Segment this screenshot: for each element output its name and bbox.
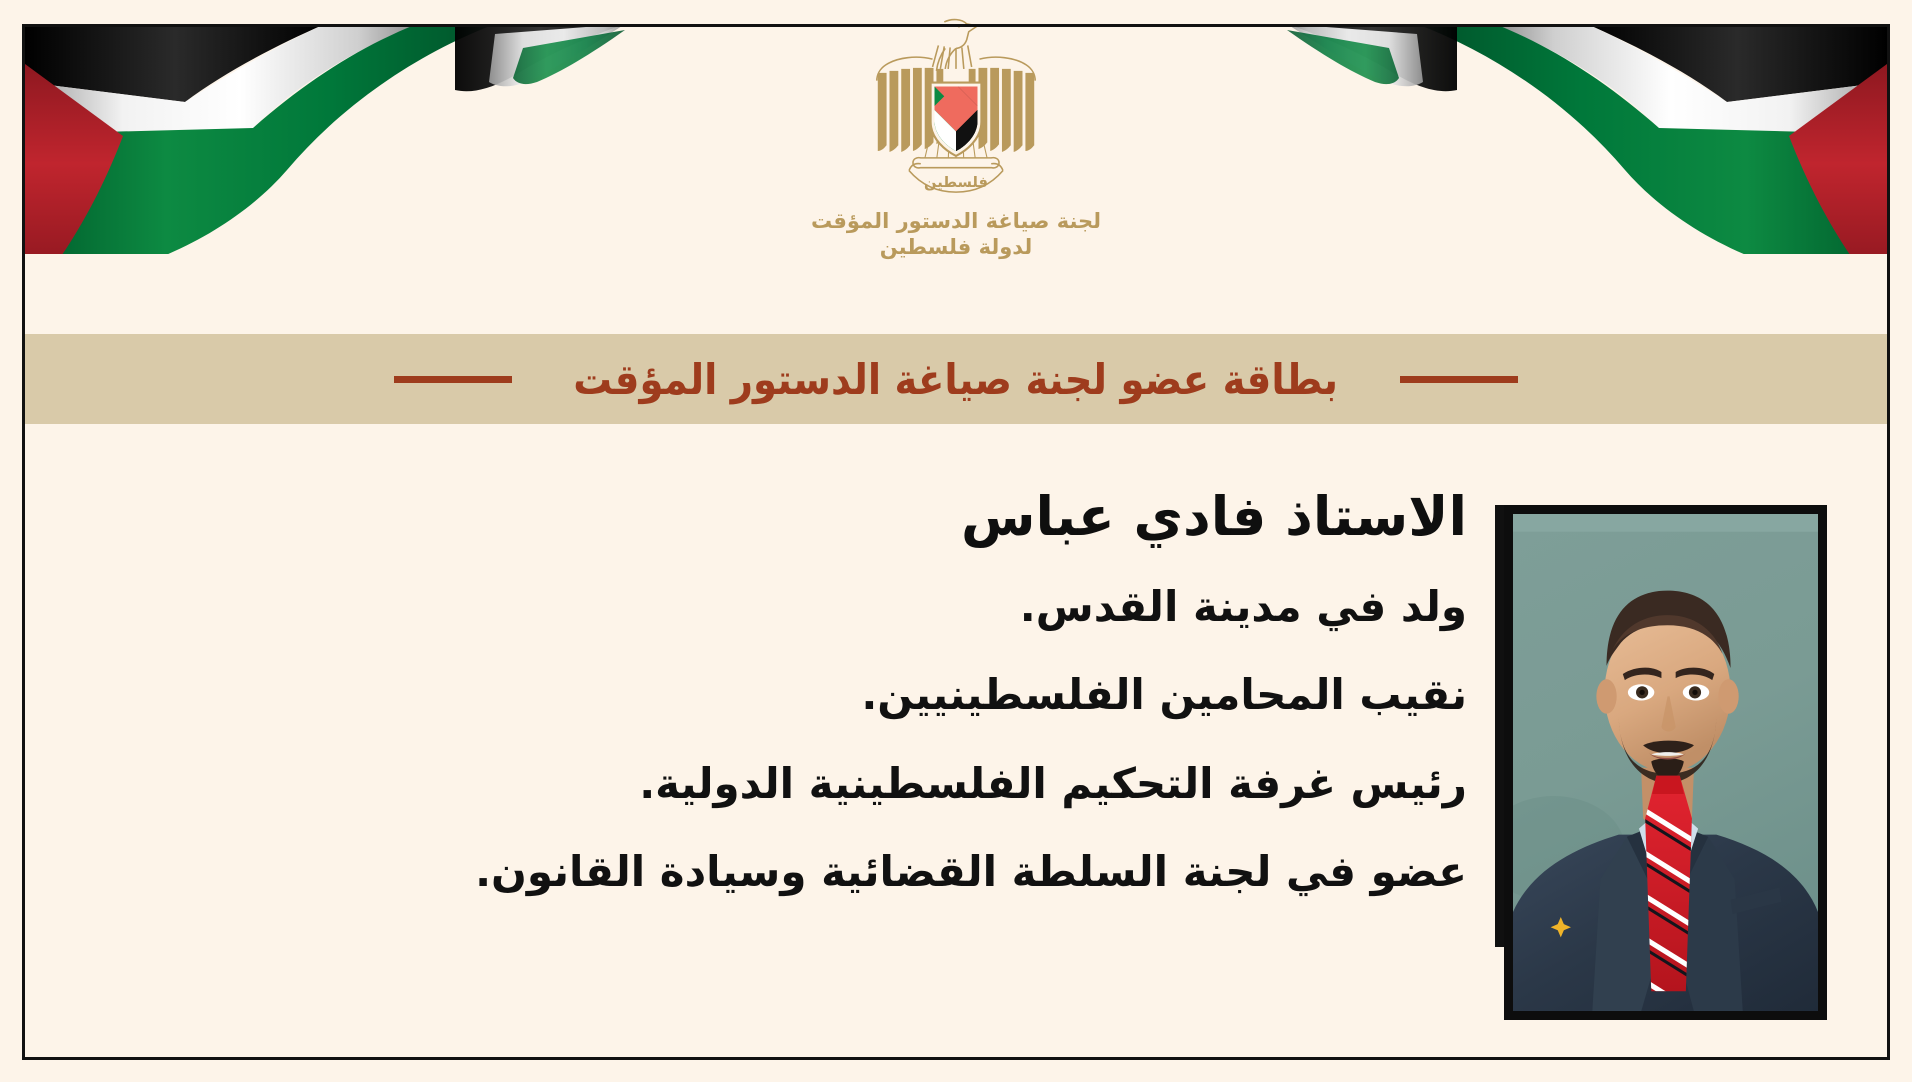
emblem-scroll-text: فلسطين (924, 174, 988, 191)
bio-line-3: رئيس غرفة التحكيم الفلسطينية الدولية. (65, 759, 1467, 809)
organization-name-line-2: لدولة فلسطين (880, 234, 1033, 260)
member-portrait-photo (1504, 505, 1827, 1020)
banner-dash-right (1400, 376, 1518, 383)
content-divider (1495, 505, 1504, 947)
member-name: الاستاذ فادي عباس (65, 486, 1467, 548)
member-card: فلسطين لجنة صياغة الدستور المؤقت لدولة ف… (0, 0, 1912, 1082)
banner-dash-left (394, 376, 512, 383)
bio-line-1: ولد في مدينة القدس. (65, 582, 1467, 632)
portrait-column (1504, 505, 1827, 1020)
card-title-banner: بطاقة عضو لجنة صياغة الدستور المؤقت (25, 334, 1887, 424)
bio-line-2: نقيب المحامين الفلسطينيين. (65, 670, 1467, 720)
member-info-column: الاستاذ فادي عباس ولد في مدينة القدس. نق… (25, 486, 1467, 898)
card-body: الاستاذ فادي عباس ولد في مدينة القدس. نق… (25, 424, 1887, 1057)
bio-line-4: عضو في لجنة السلطة القضائية وسيادة القان… (65, 847, 1467, 897)
header-emblem-block: فلسطين لجنة صياغة الدستور المؤقت لدولة ف… (0, 16, 1912, 261)
organization-name-line-1: لجنة صياغة الدستور المؤقت (811, 208, 1101, 234)
card-title: بطاقة عضو لجنة صياغة الدستور المؤقت (574, 355, 1339, 404)
palestine-eagle-emblem-icon: فلسطين (868, 16, 1044, 202)
